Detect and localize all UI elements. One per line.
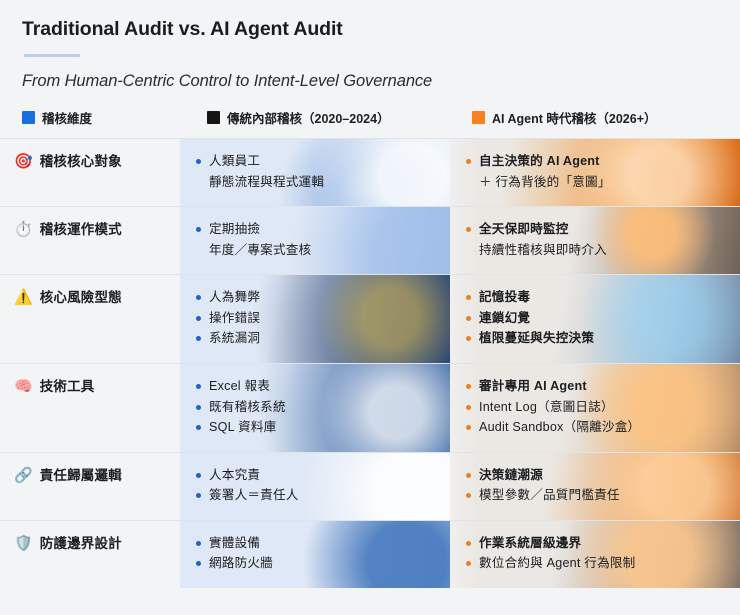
- traditional-list: 人為舞弊 操作錯誤 系統漏洞: [196, 288, 436, 349]
- legend-label-dimension: 稽核維度: [42, 108, 92, 127]
- list-item: 年度／專案式查核: [196, 241, 436, 261]
- legend-item-ai: AI Agent 時代稽核（2026+）: [472, 108, 718, 127]
- list-item: 人為舞弊: [196, 288, 436, 308]
- table-row: 🛡️ 防護邊界設計 實體設備 網路防火牆 作業系統層級邊界 數位合約與 Agen…: [0, 521, 740, 588]
- traditional-cell: 人為舞弊 操作錯誤 系統漏洞: [180, 275, 450, 363]
- list-item: 定期抽撿: [196, 220, 436, 240]
- traditional-cell: 人類員工 靜態流程與程式運輯: [180, 139, 450, 206]
- list-item: Excel 報表: [196, 377, 436, 397]
- traditional-list: 定期抽撿 年度／專案式查核: [196, 220, 436, 260]
- dimension-label: 稽核運作模式: [40, 221, 122, 239]
- dimension-cell: 🎯 稽核核心對象: [0, 139, 180, 206]
- dimension-label: 防護邊界設計: [40, 535, 122, 553]
- legend-label-ai: AI Agent 時代稽核（2026+）: [492, 108, 657, 127]
- list-item: 網路防火牆: [196, 554, 436, 574]
- stopwatch-icon: ⏱️: [14, 221, 33, 240]
- title-accent-rule: [24, 54, 80, 57]
- dimension-label: 責任歸屬邏輯: [40, 467, 122, 485]
- list-item: SQL 資料庫: [196, 418, 436, 438]
- legend-item-dimension: 稽核維度: [22, 108, 207, 127]
- orange-swatch-icon: [472, 111, 485, 124]
- table-row: ⚠️ 核心風險型態 人為舞弊 操作錯誤 系統漏洞 記憶投毒 連鎖幻覺 植限蔓延與…: [0, 275, 740, 364]
- list-item: 持續性稽核與即時介入: [466, 241, 726, 261]
- traditional-cell: Excel 報表 既有稽核系統 SQL 資料庫: [180, 364, 450, 452]
- ai-list: 審計專用 AI Agent Intent Log（意圖日誌） Audit San…: [466, 377, 726, 438]
- table-row: 🔗 責任歸屬邏輯 人本究責 簽署人＝責任人 決策鏈潮源 模型參數／品質門檻責任: [0, 453, 740, 521]
- blue-swatch-icon: [22, 111, 35, 124]
- dimension-cell: 🔗 責任歸屬邏輯: [0, 453, 180, 520]
- legend-label-traditional: 傳統內部稽核（2020–2024）: [227, 108, 390, 127]
- ai-list: 自主決策的 AI Agent ＋ 行為背後的「意圖」: [466, 152, 726, 192]
- black-swatch-icon: [207, 111, 220, 124]
- list-item: 實體設備: [196, 534, 436, 554]
- table-row: ⏱️ 稽核運作模式 定期抽撿 年度／專案式查核 全天保即時監控 持續性稽核與即時…: [0, 207, 740, 275]
- list-item: 既有稽核系統: [196, 398, 436, 418]
- list-item: 數位合約與 Agent 行為限制: [466, 554, 726, 574]
- list-item: Audit Sandbox（隔離沙盒）: [466, 418, 726, 438]
- list-item: ＋ 行為背後的「意圖」: [466, 173, 726, 193]
- legend: 稽核維度 傳統內部稽核（2020–2024） AI Agent 時代稽核（202…: [22, 108, 718, 127]
- list-item: 全天保即時監控: [466, 220, 726, 240]
- traditional-cell: 定期抽撿 年度／專案式查核: [180, 207, 450, 274]
- shield-icon: 🛡️: [14, 535, 33, 554]
- list-item: 人類員工: [196, 152, 436, 172]
- ai-list: 決策鏈潮源 模型參數／品質門檻責任: [466, 466, 726, 506]
- list-item: 決策鏈潮源: [466, 466, 726, 486]
- ai-cell: 作業系統層級邊界 數位合約與 Agent 行為限制: [450, 521, 740, 588]
- ai-list: 記憶投毒 連鎖幻覺 植限蔓延與失控決策: [466, 288, 726, 349]
- brain-icon: 🧠: [14, 378, 33, 397]
- list-item: 審計專用 AI Agent: [466, 377, 726, 397]
- list-item: 人本究責: [196, 466, 436, 486]
- comparison-table: 🎯 稽核核心對象 人類員工 靜態流程與程式運輯 自主決策的 AI Agent ＋…: [0, 138, 740, 587]
- traditional-cell: 實體設備 網路防火牆: [180, 521, 450, 588]
- traditional-list: Excel 報表 既有稽核系統 SQL 資料庫: [196, 377, 436, 438]
- dart-icon: 🎯: [14, 153, 33, 172]
- list-item: 自主決策的 AI Agent: [466, 152, 726, 172]
- ai-cell: 全天保即時監控 持續性稽核與即時介入: [450, 207, 740, 274]
- ai-cell: 自主決策的 AI Agent ＋ 行為背後的「意圖」: [450, 139, 740, 206]
- table-row: 🧠 技術工具 Excel 報表 既有稽核系統 SQL 資料庫 審計專用 AI A…: [0, 364, 740, 453]
- ai-list: 作業系統層級邊界 數位合約與 Agent 行為限制: [466, 534, 726, 574]
- traditional-list: 人本究責 簽署人＝責任人: [196, 466, 436, 506]
- list-item: 靜態流程與程式運輯: [196, 173, 436, 193]
- dimension-cell: 🛡️ 防護邊界設計: [0, 521, 180, 588]
- list-item: 植限蔓延與失控決策: [466, 329, 726, 349]
- link-icon: 🔗: [14, 467, 33, 486]
- dimension-cell: ⚠️ 核心風險型態: [0, 275, 180, 363]
- dimension-label: 稽核核心對象: [40, 153, 122, 171]
- traditional-list: 人類員工 靜態流程與程式運輯: [196, 152, 436, 192]
- dimension-label: 核心風險型態: [40, 289, 122, 307]
- list-item: 操作錯誤: [196, 309, 436, 329]
- ai-cell: 記憶投毒 連鎖幻覺 植限蔓延與失控決策: [450, 275, 740, 363]
- header: Traditional Audit vs. AI Agent Audit Fro…: [0, 18, 740, 127]
- traditional-cell: 人本究責 簽署人＝責任人: [180, 453, 450, 520]
- list-item: 模型參數／品質門檻責任: [466, 486, 726, 506]
- list-item: 記憶投毒: [466, 288, 726, 308]
- list-item: 作業系統層級邊界: [466, 534, 726, 554]
- ai-list: 全天保即時監控 持續性稽核與即時介入: [466, 220, 726, 260]
- traditional-list: 實體設備 網路防火牆: [196, 534, 436, 574]
- dimension-label: 技術工具: [40, 378, 95, 396]
- legend-item-traditional: 傳統內部稽核（2020–2024）: [207, 108, 472, 127]
- list-item: 連鎖幻覺: [466, 309, 726, 329]
- page-title: Traditional Audit vs. AI Agent Audit: [22, 18, 718, 41]
- comparison-infographic: Traditional Audit vs. AI Agent Audit Fro…: [0, 0, 740, 615]
- table-row: 🎯 稽核核心對象 人類員工 靜態流程與程式運輯 自主決策的 AI Agent ＋…: [0, 139, 740, 207]
- dimension-cell: ⏱️ 稽核運作模式: [0, 207, 180, 274]
- ai-cell: 審計專用 AI Agent Intent Log（意圖日誌） Audit San…: [450, 364, 740, 452]
- list-item: Intent Log（意圖日誌）: [466, 398, 726, 418]
- ai-cell: 決策鏈潮源 模型參數／品質門檻責任: [450, 453, 740, 520]
- warning-icon: ⚠️: [14, 289, 33, 308]
- list-item: 系統漏洞: [196, 329, 436, 349]
- list-item: 簽署人＝責任人: [196, 486, 436, 506]
- page-subtitle: From Human-Centric Control to Intent-Lev…: [22, 72, 718, 91]
- dimension-cell: 🧠 技術工具: [0, 364, 180, 452]
